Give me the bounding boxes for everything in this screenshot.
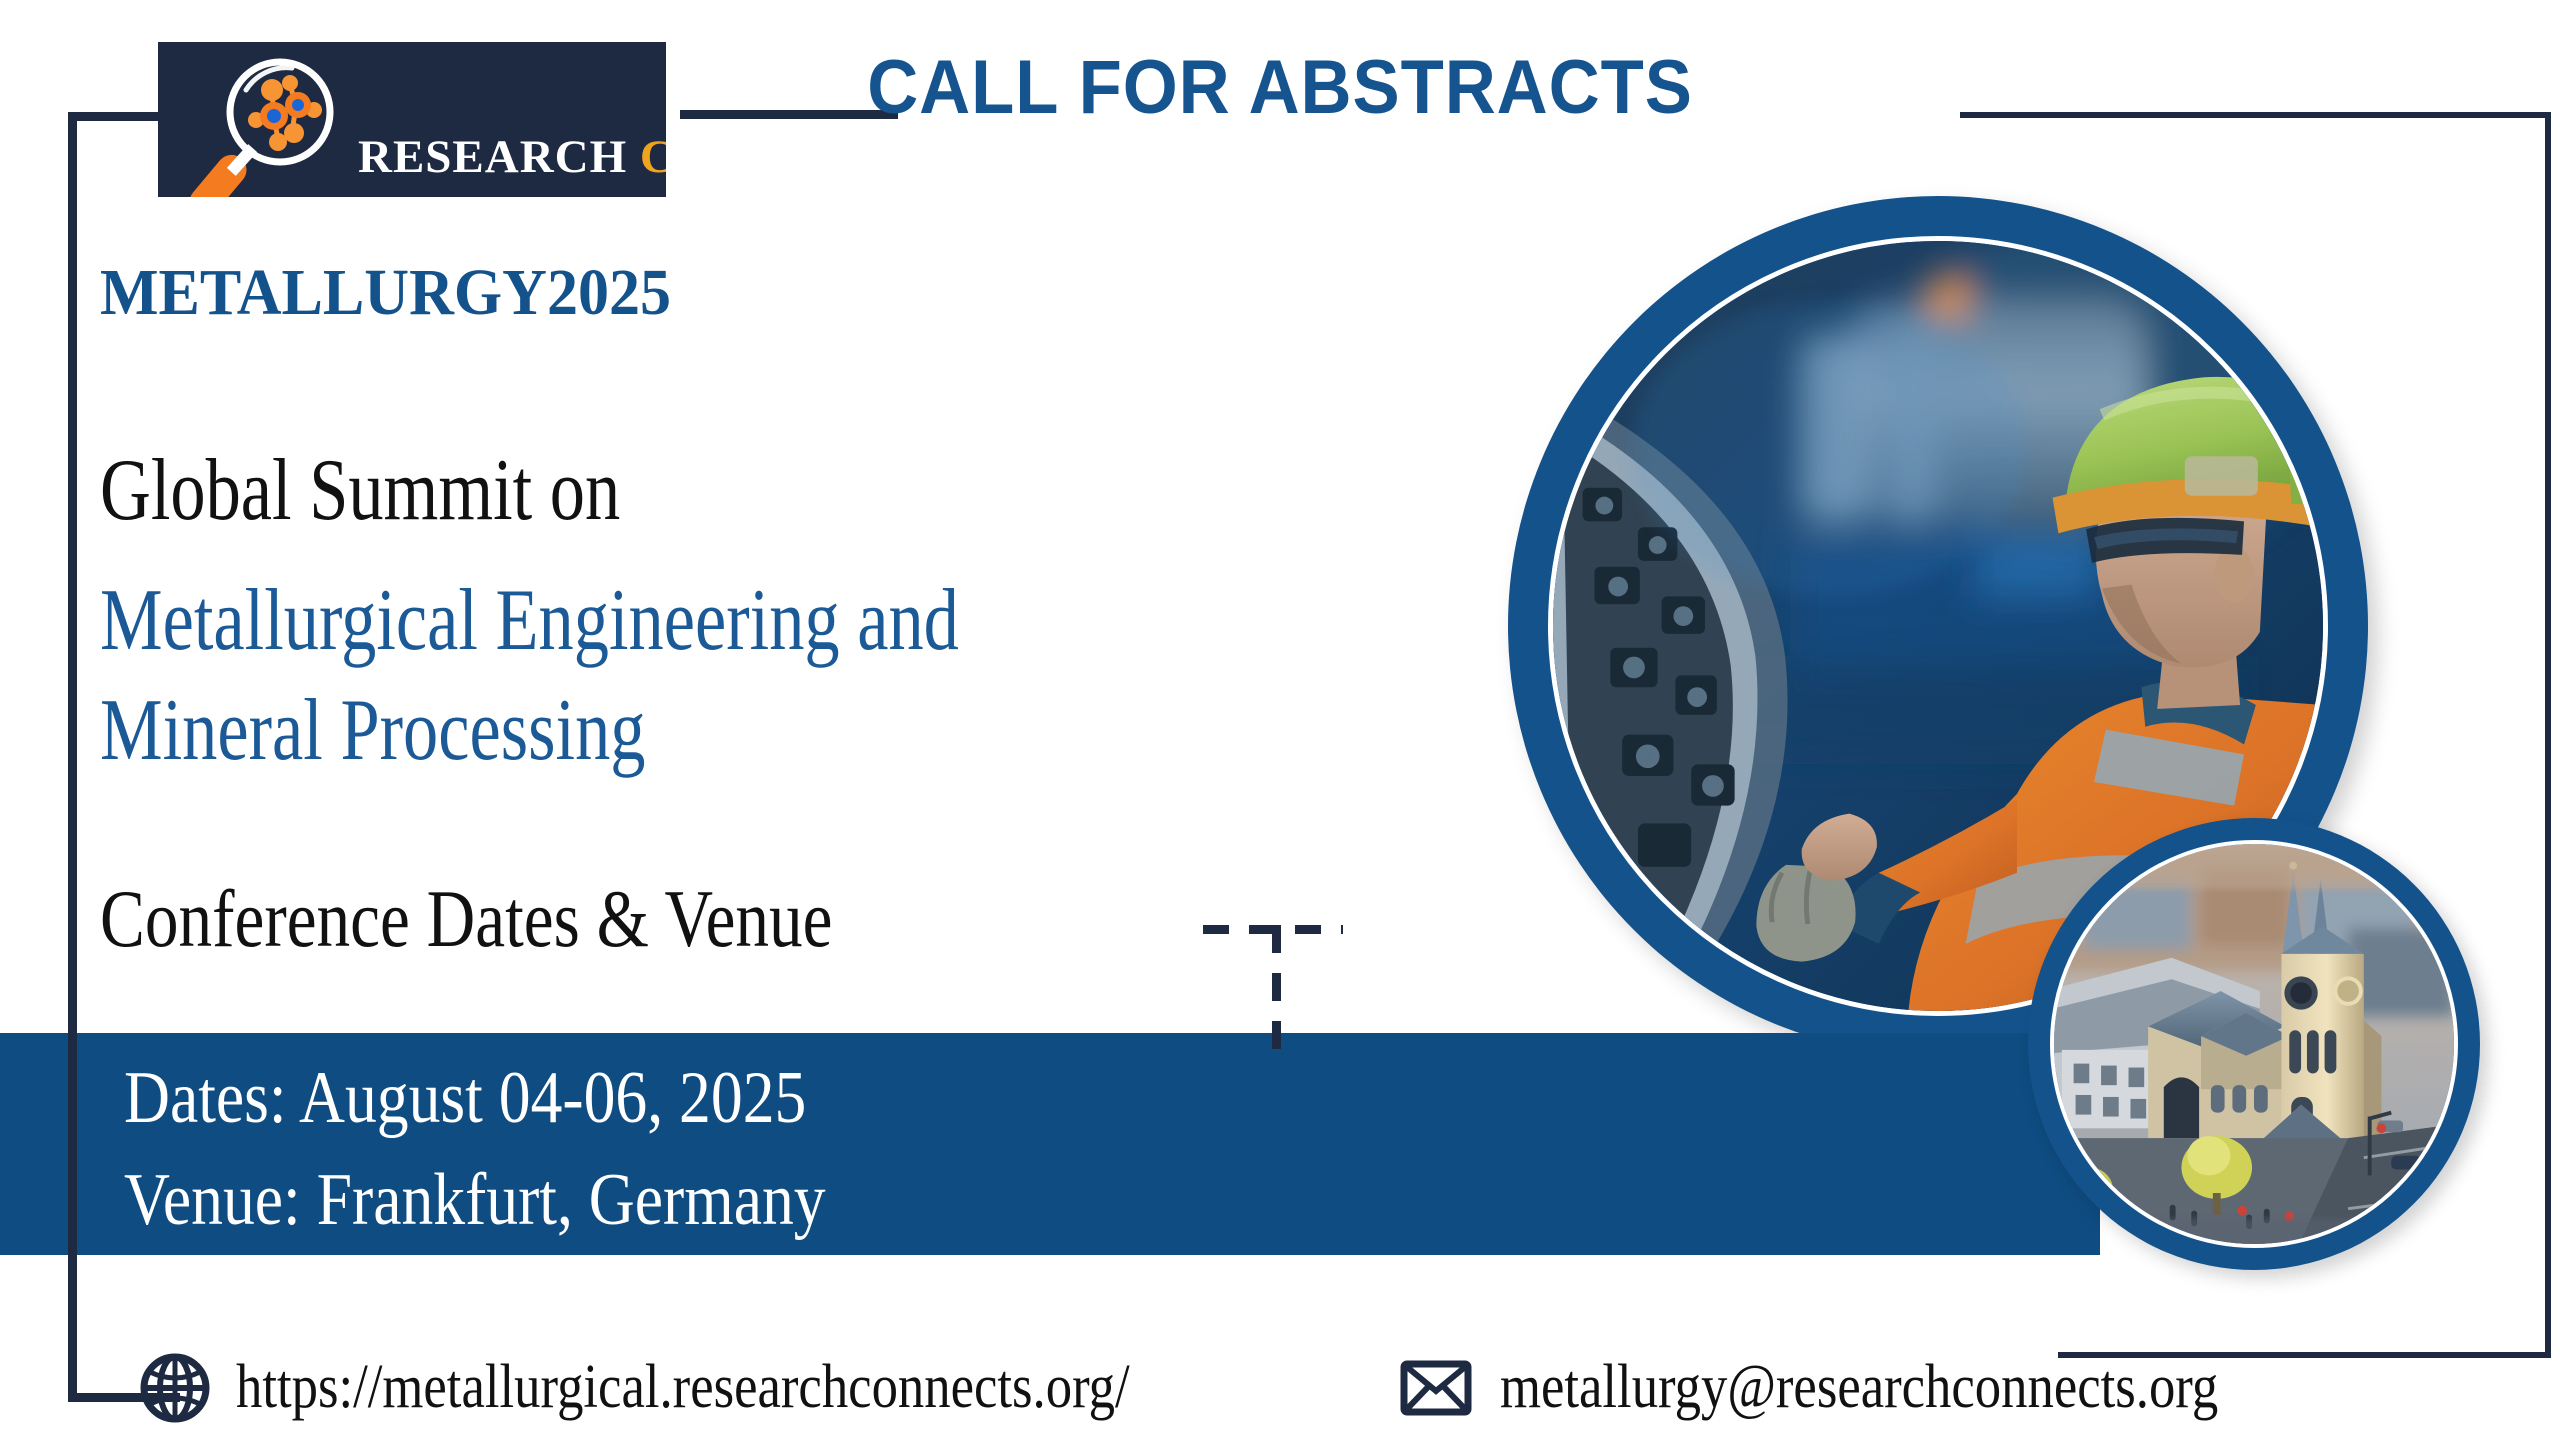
logo-word-connects: CONNECTS — [640, 131, 666, 183]
frankfurt-cityscape-illustration — [2054, 844, 2454, 1244]
conference-title-line-1: Global Summit on — [100, 440, 620, 541]
dashed-connector-vertical — [1272, 925, 1281, 1050]
envelope-icon — [1400, 1359, 1472, 1417]
logo-word-research: RESEARCH — [358, 131, 627, 183]
website-url: https://metallurgical.researchconnects.o… — [236, 1352, 1130, 1423]
conference-code: METALLURGY2025 — [100, 255, 671, 331]
email-link[interactable]: metallurgy@researchconnects.org — [1400, 1352, 2345, 1423]
conference-title-line-2: Metallurgical Engineering and — [100, 570, 959, 671]
venue-photo-frame — [2028, 818, 2480, 1270]
logo-wordmark: RESEARCH CONNECTS — [358, 130, 666, 184]
venue-photo — [2050, 840, 2458, 1248]
frame-left-vertical-rule — [68, 112, 77, 1402]
conference-venue: Venue: Frankfurt, Germany — [124, 1158, 826, 1243]
conference-title-line-3: Mineral Processing — [100, 680, 646, 781]
conference-dates: Dates: August 04-06, 2025 — [124, 1056, 806, 1141]
website-link[interactable]: https://metallurgical.researchconnects.o… — [140, 1352, 1287, 1423]
dates-venue-heading: Conference Dates & Venue — [100, 872, 833, 966]
brand-logo[interactable]: RESEARCH CONNECTS — [158, 42, 666, 197]
email-address: metallurgy@researchconnects.org — [1500, 1352, 2218, 1423]
globe-icon — [140, 1353, 210, 1423]
frame-right-vertical-rule — [2545, 112, 2551, 1352]
